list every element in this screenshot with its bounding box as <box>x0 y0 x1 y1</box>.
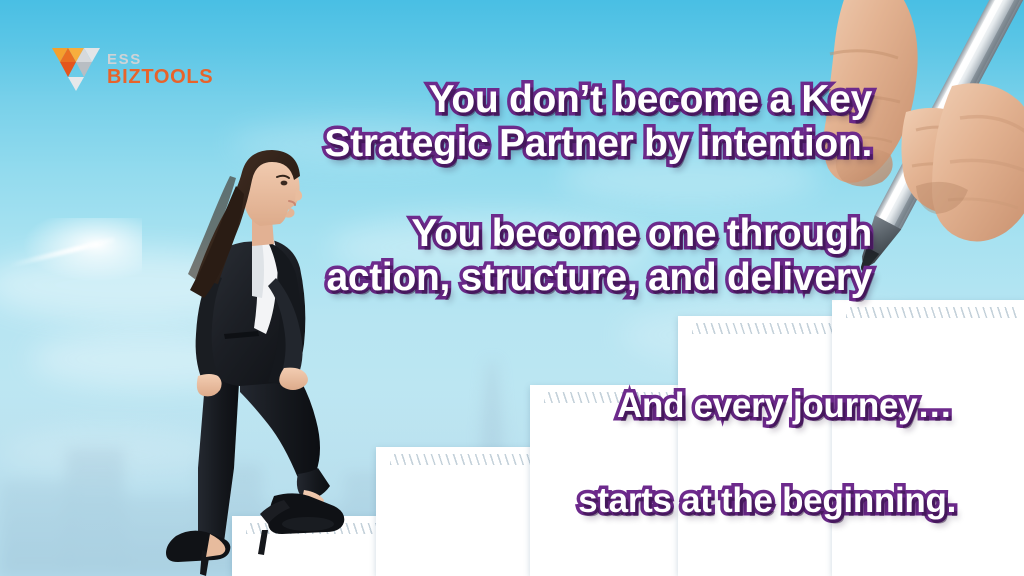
businesswoman-image <box>148 138 398 576</box>
subhead-line-1: You become one through <box>326 212 872 256</box>
logo-biztools-text: BIZTOOLS <box>107 68 213 87</box>
promo-slide: ESS BIZTOOLS You don’t become a Key Stra… <box>0 0 1024 576</box>
journey-text: And every journey… <box>617 386 952 425</box>
subhead-line-2: action, structure, and delivery <box>326 256 872 300</box>
journey-line: And every journey… <box>617 386 952 425</box>
beginning-text: starts at the beginning. <box>578 481 956 520</box>
logo-ess-text: ESS <box>107 53 213 67</box>
headline-line-1: You don’t become a Key <box>324 78 872 122</box>
subhead-text: You become one through action, structure… <box>326 212 872 299</box>
logo-wordmark: ESS BIZTOOLS <box>107 53 213 88</box>
headline-text: You don’t become a Key Strategic Partner… <box>324 78 872 165</box>
triangle-logo-icon <box>52 48 100 92</box>
headline-line-2: Strategic Partner by intention. <box>324 122 872 166</box>
beginning-line: starts at the beginning. <box>578 481 956 520</box>
ess-biztools-logo[interactable]: ESS BIZTOOLS <box>52 48 213 92</box>
